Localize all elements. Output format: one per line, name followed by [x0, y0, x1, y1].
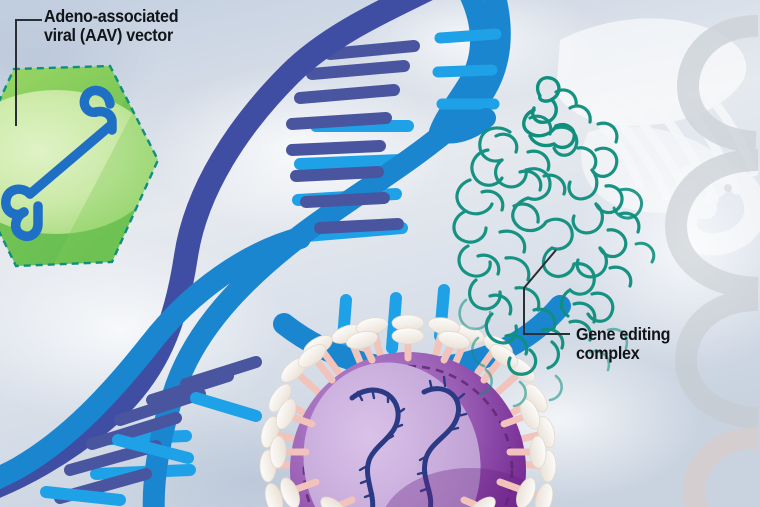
- illustration-svg: [0, 0, 760, 507]
- gene-editing-label-line1: Gene editing: [576, 324, 670, 344]
- illustration-canvas: Adeno-associatedviral (AAV) vector Gene …: [0, 0, 760, 507]
- aav-label-line2: viral (AAV) vector: [44, 25, 173, 45]
- gene-editing-label-line2: complex: [576, 343, 639, 363]
- gene-editing-label: Gene editingcomplex: [576, 325, 670, 363]
- aav-label: Adeno-associatedviral (AAV) vector: [44, 7, 178, 45]
- aav-label-line1: Adeno-associated: [44, 6, 178, 26]
